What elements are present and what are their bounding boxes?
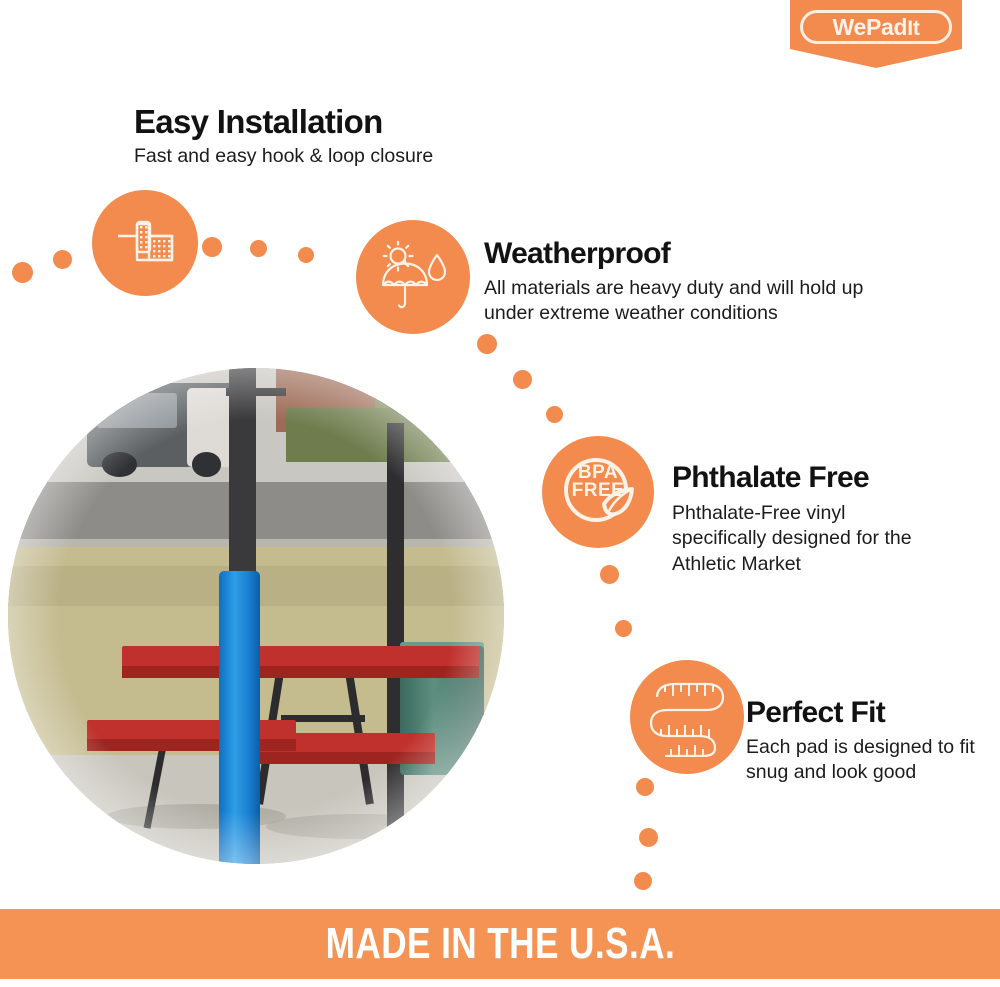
logo-wordmark: WePadIt xyxy=(832,16,919,39)
feature-desc-weatherproof: All materials are heavy duty and will ho… xyxy=(484,276,904,328)
photo-tire xyxy=(102,452,137,477)
photo-pole-arm xyxy=(226,388,286,396)
feature-desc-phthalate-free: Phthalate-Free vinyl specifically design… xyxy=(672,501,934,579)
connector-dot xyxy=(477,334,497,354)
made-in-usa-banner: MADE IN THE U.S.A. xyxy=(0,909,1000,979)
connector-dot xyxy=(600,565,619,584)
photo-bench-left-edge xyxy=(87,739,295,751)
logo-plate: WePadIt xyxy=(800,10,952,44)
logo-text-pad: Pad xyxy=(866,14,907,40)
photo-suv-window xyxy=(97,393,176,428)
feature-title-easy-installation: Easy Installation xyxy=(134,105,383,140)
connector-dot xyxy=(53,250,72,269)
photo-table-top-edge xyxy=(122,666,479,679)
connector-dot xyxy=(615,620,632,637)
photo-blue-post-pad xyxy=(219,571,261,864)
connector-dot xyxy=(546,406,563,423)
connector-dot xyxy=(513,370,532,389)
connector-dot xyxy=(639,828,658,847)
connector-dot xyxy=(298,247,314,263)
logo-text-we: We xyxy=(832,14,866,40)
connector-dot xyxy=(12,262,33,283)
connector-dot xyxy=(634,872,652,890)
made-in-usa-text: MADE IN THE U.S.A. xyxy=(325,922,674,966)
connector-dot xyxy=(250,240,267,257)
product-photo xyxy=(8,368,504,864)
connector-dot xyxy=(202,237,222,257)
feature-title-perfect-fit: Perfect Fit xyxy=(746,697,885,729)
brand-logo: WePadIt xyxy=(790,0,962,68)
feature-title-phthalate-free: Phthalate Free xyxy=(672,462,869,494)
infographic-page: WePadIt Easy Installation Fast and easy … xyxy=(0,0,1000,987)
sun-umbrella-rain-icon xyxy=(356,220,470,334)
feature-title-weatherproof: Weatherproof xyxy=(484,238,670,270)
measuring-tape-icon xyxy=(630,660,744,774)
photo-bench-right-edge xyxy=(256,752,435,764)
connector-dot xyxy=(636,778,654,796)
building-icon xyxy=(92,190,198,296)
photo-tire xyxy=(192,452,222,477)
feature-desc-perfect-fit: Each pad is designed to fit snug and loo… xyxy=(746,735,978,787)
bpa-free-leaf-icon: BPA FREE xyxy=(542,436,654,548)
logo-text-it: It xyxy=(907,17,919,40)
feature-desc-easy-installation: Fast and easy hook & loop closure xyxy=(134,144,554,170)
